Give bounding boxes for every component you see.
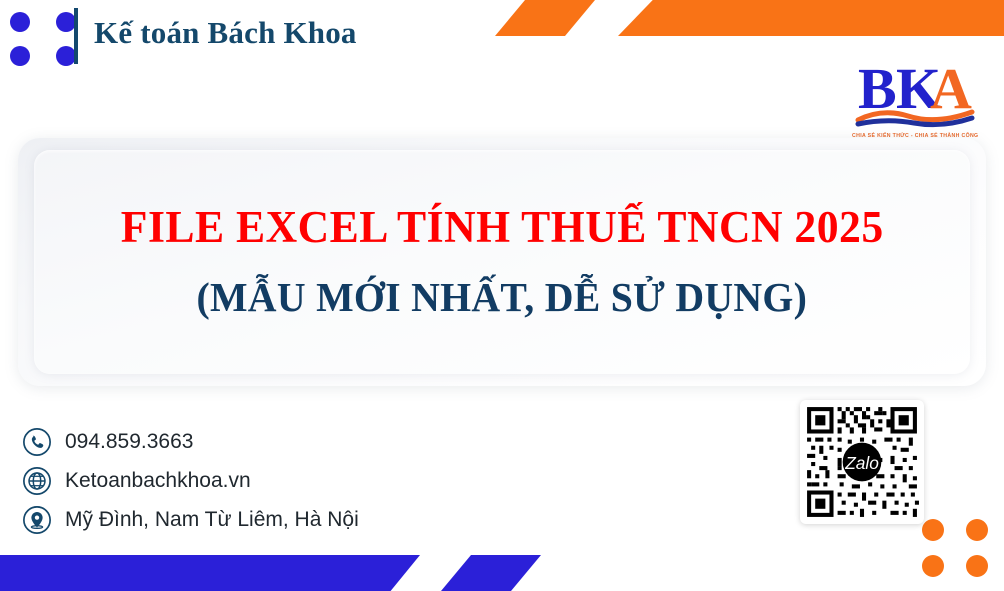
zalo-qr-code[interactable]: Zalo <box>800 400 924 524</box>
dot <box>966 555 988 577</box>
location-pin-icon <box>22 505 52 535</box>
orange-dot-grid-icon <box>922 519 988 577</box>
dot <box>56 12 76 32</box>
contact-row-phone[interactable]: 094.859.3663 <box>22 422 359 461</box>
dot <box>10 12 30 32</box>
page-title: FILE EXCEL TÍNH THUẾ TNCN 2025 <box>121 204 884 251</box>
qr-center-label: Zalo <box>844 453 879 473</box>
svg-text:A: A <box>930 56 972 121</box>
headline-card: FILE EXCEL TÍNH THUẾ TNCN 2025 (MẪU MỚI … <box>18 138 986 386</box>
header-divider <box>74 8 78 64</box>
dot <box>966 519 988 541</box>
brand-title: Kế toán Bách Khoa <box>94 15 357 51</box>
contact-address-text: Mỹ Đình, Nam Từ Liêm, Hà Nội <box>65 508 359 532</box>
blue-dot-grid-icon <box>10 12 76 66</box>
dot <box>56 46 76 66</box>
qr-code-graphic: Zalo <box>803 403 921 521</box>
contact-list: 094.859.3663 Ketoanbachkhoa.vn Mỹ Đình, … <box>22 422 359 539</box>
globe-icon <box>22 466 52 496</box>
headline-card-inner: FILE EXCEL TÍNH THUẾ TNCN 2025 (MẪU MỚI … <box>34 150 970 374</box>
dot <box>922 555 944 577</box>
promo-banner: Kế toán Bách Khoa B K A CHIA SẺ KIẾN THỨ… <box>0 0 1004 591</box>
dot <box>922 519 944 541</box>
orange-ribbon-large <box>618 0 1004 36</box>
orange-ribbon-small <box>495 0 595 36</box>
contact-row-website[interactable]: Ketoanbachkhoa.vn <box>22 461 359 500</box>
bka-logo-mark: B K A <box>852 52 978 132</box>
contact-phone-text: 094.859.3663 <box>65 430 193 454</box>
page-subtitle: (MẪU MỚI NHẤT, DỄ SỬ DỤNG) <box>197 275 808 320</box>
blue-ribbon-large <box>0 555 420 591</box>
contact-row-address[interactable]: Mỹ Đình, Nam Từ Liêm, Hà Nội <box>22 500 359 539</box>
blue-ribbon-small <box>441 555 541 591</box>
contact-website-text: Ketoanbachkhoa.vn <box>65 469 251 493</box>
phone-icon <box>22 427 52 457</box>
dot <box>10 46 30 66</box>
bka-logo: B K A CHIA SẺ KIẾN THỨC - CHIA SẺ THÀNH … <box>852 52 978 144</box>
